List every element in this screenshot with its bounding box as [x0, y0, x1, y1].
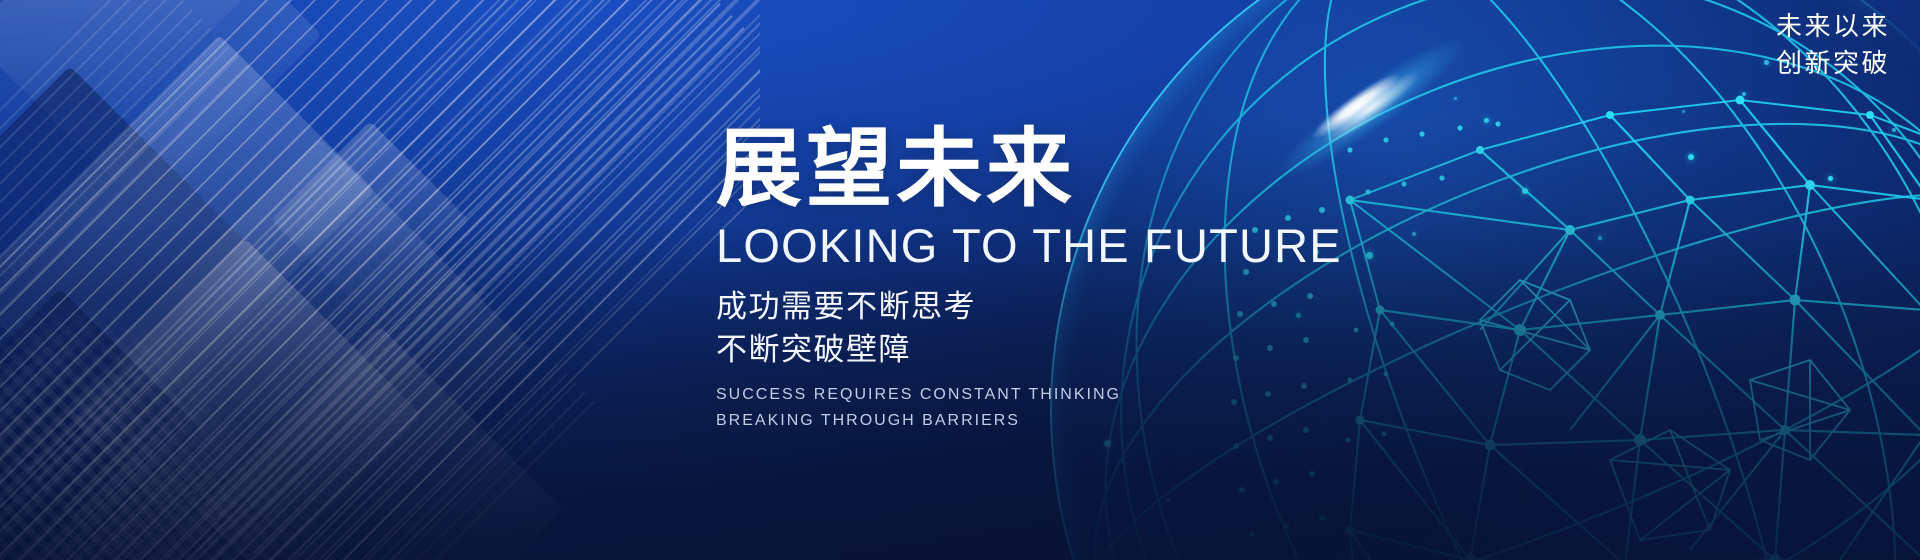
particle-dot	[1598, 236, 1602, 240]
hero-banner: 展望未来 LOOKING TO THE FUTURE 成功需要不断思考 不断突破…	[0, 0, 1920, 560]
page-title: 展望未来	[716, 126, 1436, 214]
subtitle-chinese-line-1: 成功需要不断思考	[716, 286, 1436, 329]
left-geometric-pattern	[0, 0, 760, 560]
particle-dot	[1104, 440, 1111, 447]
subtitle-english-line-1: SUCCESS REQUIRES CONSTANT THINKING	[716, 382, 1436, 408]
particle-dot	[1828, 176, 1833, 181]
particle-dot	[1688, 154, 1694, 160]
subtitle-chinese-line-2: 不断突破壁障	[716, 329, 1436, 372]
hero-copy-block: 展望未来 LOOKING TO THE FUTURE 成功需要不断思考 不断突破…	[716, 126, 1436, 434]
particle-dot	[1742, 92, 1746, 96]
particle-dot	[1522, 188, 1528, 194]
particle-dot	[1892, 128, 1896, 132]
particle-dot	[1764, 60, 1769, 65]
particle-dot	[1166, 498, 1170, 502]
subtitle-english: SUCCESS REQUIRES CONSTANT THINKING BREAK…	[716, 382, 1436, 434]
corner-slogan-line-1: 未来以来	[1776, 8, 1890, 45]
corner-slogan-line-2: 创新突破	[1776, 45, 1890, 82]
subtitle-chinese: 成功需要不断思考 不断突破壁障	[716, 286, 1436, 372]
corner-slogan: 未来以来 创新突破	[1776, 8, 1890, 82]
particle-dot	[1682, 110, 1685, 113]
subtitle-english-line-2: BREAKING THROUGH BARRIERS	[716, 408, 1436, 434]
particle-dot	[1484, 118, 1489, 123]
headline-english: LOOKING TO THE FUTURE	[716, 220, 1436, 273]
particle-dot	[1454, 97, 1457, 100]
